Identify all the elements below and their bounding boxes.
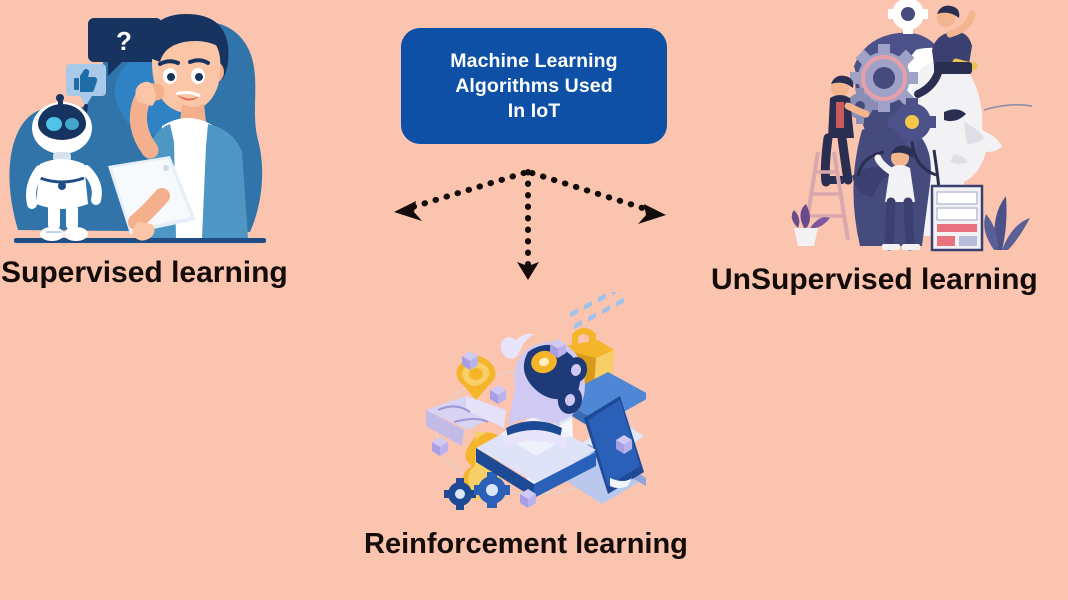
reinforcement-learning-illustration (424, 292, 646, 520)
dotted-arrow-right (532, 173, 666, 224)
person-teaching-robot-illustration: ? (0, 0, 290, 250)
label-reinforcement-learning: Reinforcement learning (364, 528, 688, 561)
central-title-text: Machine Learning Algorithms Used In IoT (450, 49, 617, 124)
central-title-box[interactable]: Machine Learning Algorithms Used In IoT (401, 28, 667, 144)
held-gear-icon (888, 0, 928, 34)
label-supervised-learning: Supervised learning (1, 256, 288, 290)
unsupervised-learning-illustration (788, 0, 1038, 252)
diagram-canvas: ? (0, 0, 1068, 600)
label-unsupervised-learning: UnSupervised learning (711, 263, 1038, 297)
dotted-arrow-down (517, 172, 539, 280)
server-rack (932, 186, 982, 250)
supervised-learning-illustration: ? (0, 0, 290, 250)
human-head-with-gears-illustration (788, 0, 1038, 252)
svg-text:?: ? (116, 26, 132, 56)
isometric-robot-rewards-illustration (424, 292, 646, 520)
fern-plant (984, 196, 1030, 250)
potted-plant (792, 204, 830, 246)
dotted-arrow-left (394, 173, 524, 221)
